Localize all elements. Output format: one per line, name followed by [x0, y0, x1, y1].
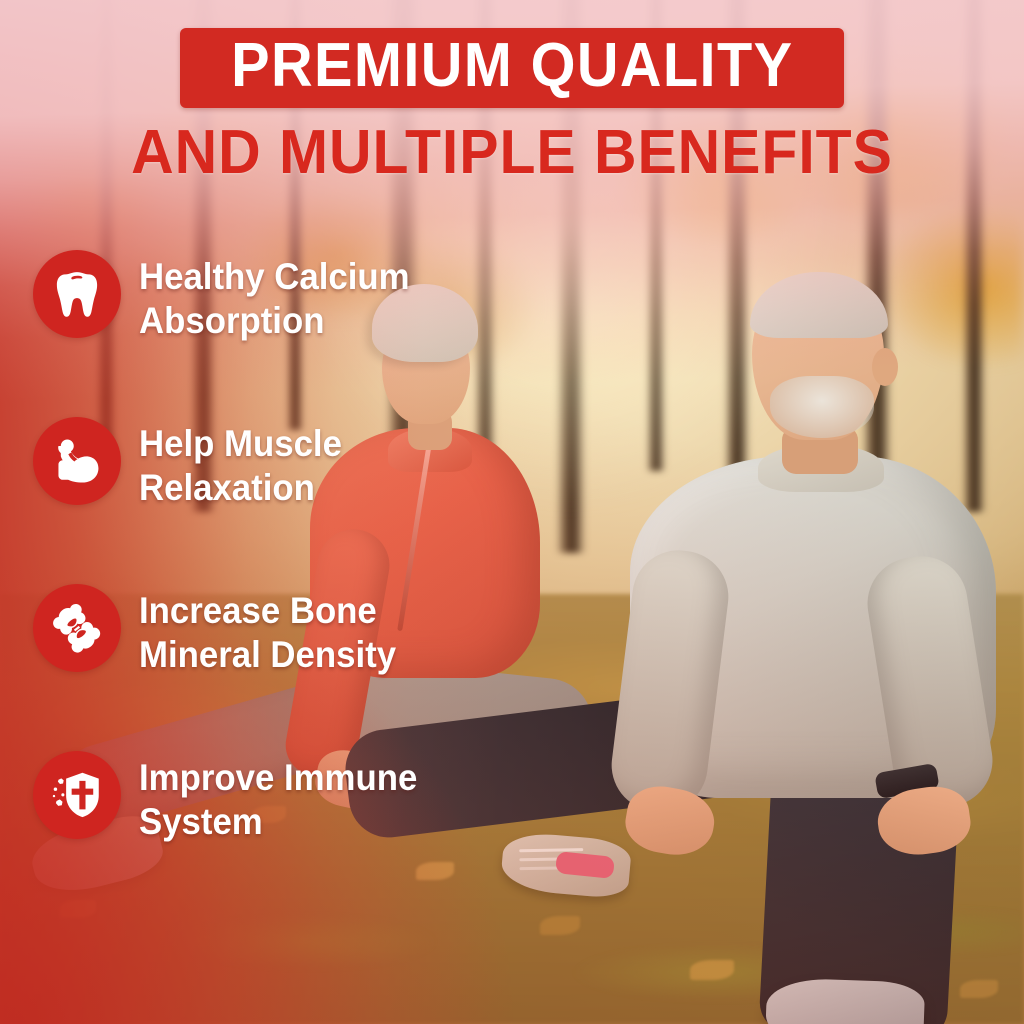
- benefit-item-improve-immune-system: Improve Immune System: [33, 751, 503, 918]
- tooth-icon: [49, 266, 105, 322]
- shield-cross-icon: [48, 766, 106, 824]
- benefit-icon-circle: [33, 584, 121, 672]
- benefit-icon-circle: [33, 751, 121, 839]
- photo-figure-man: [600, 268, 1024, 1024]
- benefit-item-help-muscle-relaxation: Help Muscle Relaxation: [33, 417, 503, 584]
- benefit-item-increase-bone-mineral-density: Increase Bone Mineral Density: [33, 584, 503, 751]
- benefit-icon-circle: [33, 417, 121, 505]
- premium-quality-banner: PREMIUM QUALITY: [180, 28, 845, 108]
- shoe-laces: [519, 848, 583, 852]
- product-benefits-poster: PREMIUM QUALITY AND MULTIPLE BENEFITS He…: [0, 0, 1024, 1024]
- benefit-label: Help Muscle Relaxation: [139, 417, 342, 510]
- benefit-icon-circle: [33, 250, 121, 338]
- man-ear: [872, 348, 898, 386]
- benefit-label: Healthy Calcium Absorption: [139, 250, 410, 343]
- man-hair: [750, 272, 888, 338]
- banner-title: PREMIUM QUALITY: [231, 33, 793, 99]
- man-shoe: [765, 977, 925, 1024]
- photo-fallen-leaf: [540, 916, 580, 935]
- benefit-label: Increase Bone Mineral Density: [139, 584, 396, 677]
- benefit-item-healthy-calcium-absorption: Healthy Calcium Absorption: [33, 250, 503, 417]
- benefit-label: Improve Immune System: [139, 751, 417, 844]
- man-beard: [770, 376, 874, 438]
- bone-joint-icon: [48, 599, 106, 657]
- headline-subtitle: AND MULTIPLE BENEFITS: [26, 120, 999, 186]
- headline-block: PREMIUM QUALITY AND MULTIPLE BENEFITS: [0, 0, 1024, 186]
- muscle-arm-icon: [49, 433, 105, 489]
- benefits-list: Healthy Calcium Absorption Help Muscle R…: [33, 250, 503, 918]
